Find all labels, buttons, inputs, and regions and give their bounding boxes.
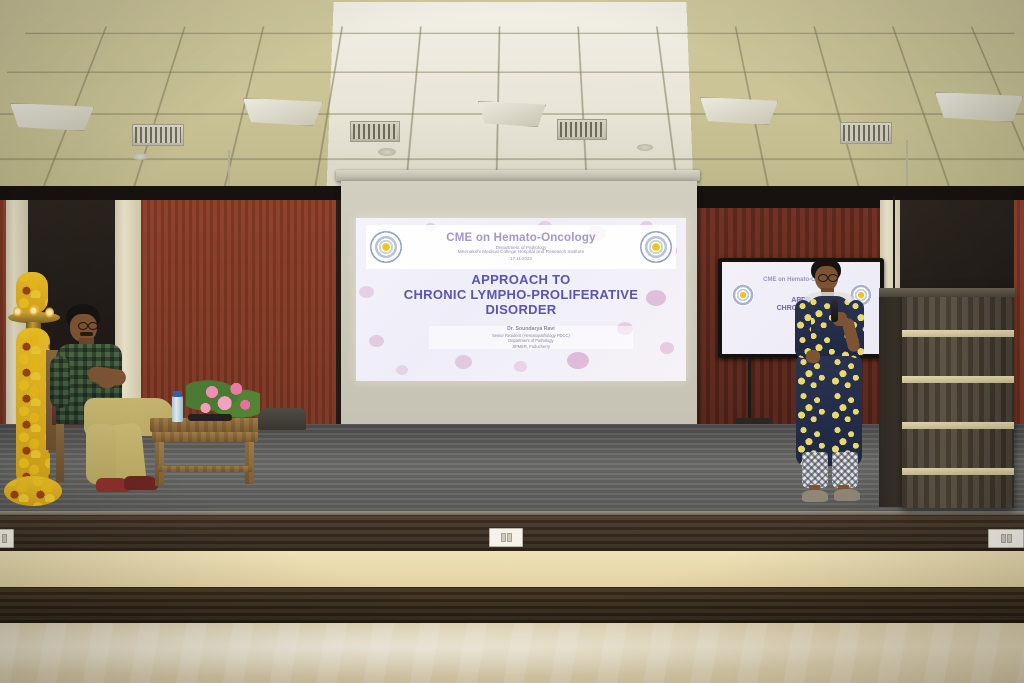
tv-slide-header: CME on Hemato-Oncology (731, 277, 870, 283)
seated-man-shin-2 (86, 424, 116, 484)
presenter-shoe-right (834, 489, 860, 501)
ceiling-light-panel-4 (700, 97, 778, 125)
seated-man-hand (98, 372, 116, 388)
ceiling-light-panel-5 (935, 92, 1023, 122)
power-outlet-center[interactable] (489, 528, 523, 547)
slide-header-date: 17.11.2023 (402, 256, 640, 261)
podium-top-surface (879, 288, 1015, 297)
slide-presenter-block: Dr. Soundarya Ravi Senior Resident (Hema… (429, 326, 634, 350)
presenter-hand-left (806, 350, 820, 363)
slide-title-line-2: CHRONIC LYMPHO-PROLIFERATIVE (369, 287, 673, 302)
cell-motif (567, 352, 589, 369)
presenter-shoe-left (802, 490, 828, 502)
slide-title-line-3: DISORDER (369, 302, 673, 317)
slide-main-title: APPROACH TO CHRONIC LYMPHO-PROLIFERATIVE… (369, 272, 673, 318)
cell-motif (455, 355, 472, 369)
ceiling (0, 0, 1024, 196)
seated-man-moustache (80, 332, 93, 336)
lamp-flame-2 (29, 305, 38, 316)
ceiling-speaker-3 (637, 144, 653, 151)
ceiling-speaker-2 (378, 148, 396, 156)
water-bottle-cap (173, 391, 182, 397)
seated-man-glasses (78, 322, 88, 330)
stage-front-cream-band (0, 551, 1024, 587)
cell-motif (396, 365, 408, 375)
presenter-trouser-right (832, 452, 858, 488)
handheld-microphone[interactable] (831, 300, 838, 322)
seated-man-glasses-2 (88, 322, 98, 330)
ceiling-speaker-1 (132, 153, 148, 160)
presenter-glasses-right (828, 274, 838, 282)
hall-floor (0, 623, 1024, 683)
seated-man-shoe-right (124, 476, 158, 490)
slide-title-line-1: APPROACH TO (369, 272, 673, 287)
table-items-dark (188, 414, 232, 421)
presentation-slide: CME on Hemato-Oncology Department of Pat… (356, 218, 686, 381)
seated-man-sleeve-left (50, 356, 70, 408)
coffee-table-leg-right (245, 442, 254, 484)
conference-hall-photo: CME on Hemato-Oncology Department of Pat… (0, 0, 1024, 683)
ac-vent-3 (557, 119, 607, 140)
cell-motif (514, 361, 527, 372)
ac-vent-1 (132, 124, 184, 146)
presenter-sleeve-left (795, 300, 811, 358)
lamp-flame-3 (45, 307, 54, 318)
outlet-slot (1007, 534, 1012, 543)
projection-screen: CME on Hemato-Oncology Department of Pat… (341, 181, 697, 439)
monitor-cable (748, 358, 751, 420)
podium-stripe-4 (902, 468, 1014, 475)
ceiling-light-panel-3 (478, 101, 546, 127)
lamp-garland-pool (4, 476, 62, 506)
cell-motif (660, 342, 674, 354)
projection-screen-housing (336, 170, 700, 181)
outlet-slot (2, 534, 7, 543)
presenter-name: Dr. Soundarya Ravi (429, 326, 634, 333)
cell-motif (369, 335, 384, 347)
stage-front-lower (0, 587, 1024, 623)
lamp-garland-main (16, 328, 50, 488)
outlet-slot (1001, 534, 1006, 543)
ceiling-light-panel-1 (10, 103, 94, 131)
presenter-glasses-left (818, 274, 828, 282)
coffee-table-apron (152, 432, 258, 442)
presenter-trouser-left (802, 452, 828, 488)
institution-seal-left-icon (370, 231, 402, 263)
sofa-armrest-right (258, 408, 306, 430)
coffee-table-leg-left (155, 442, 164, 486)
power-outlet-right[interactable] (988, 529, 1024, 548)
presenter-institution: JIPMER, Puducherry (429, 344, 634, 350)
slide-header-title: CME on Hemato-Oncology (402, 232, 640, 245)
podium-stripe-1 (902, 330, 1014, 337)
podium[interactable] (902, 288, 1014, 508)
outlet-slot (501, 533, 506, 542)
presenter-kurta-skirt (796, 356, 862, 466)
podium-stripe-3 (902, 422, 1014, 429)
coffee-table-stretcher (158, 466, 252, 472)
slide-header-bar: CME on Hemato-Oncology Department of Pat… (366, 225, 676, 269)
power-outlet-left[interactable] (0, 529, 14, 548)
ceiling-light-panel-2 (243, 98, 323, 126)
institution-seal-right-icon (640, 231, 672, 263)
ac-vent-2 (350, 121, 400, 142)
slide-header-text: CME on Hemato-Oncology Department of Pat… (402, 232, 640, 261)
outlet-slot (507, 533, 512, 542)
water-bottle (172, 396, 183, 422)
chair-leg-front (56, 424, 64, 482)
podium-stripe-2 (902, 376, 1014, 383)
ac-vent-4 (840, 122, 892, 144)
lamp-flame-1 (13, 306, 22, 317)
